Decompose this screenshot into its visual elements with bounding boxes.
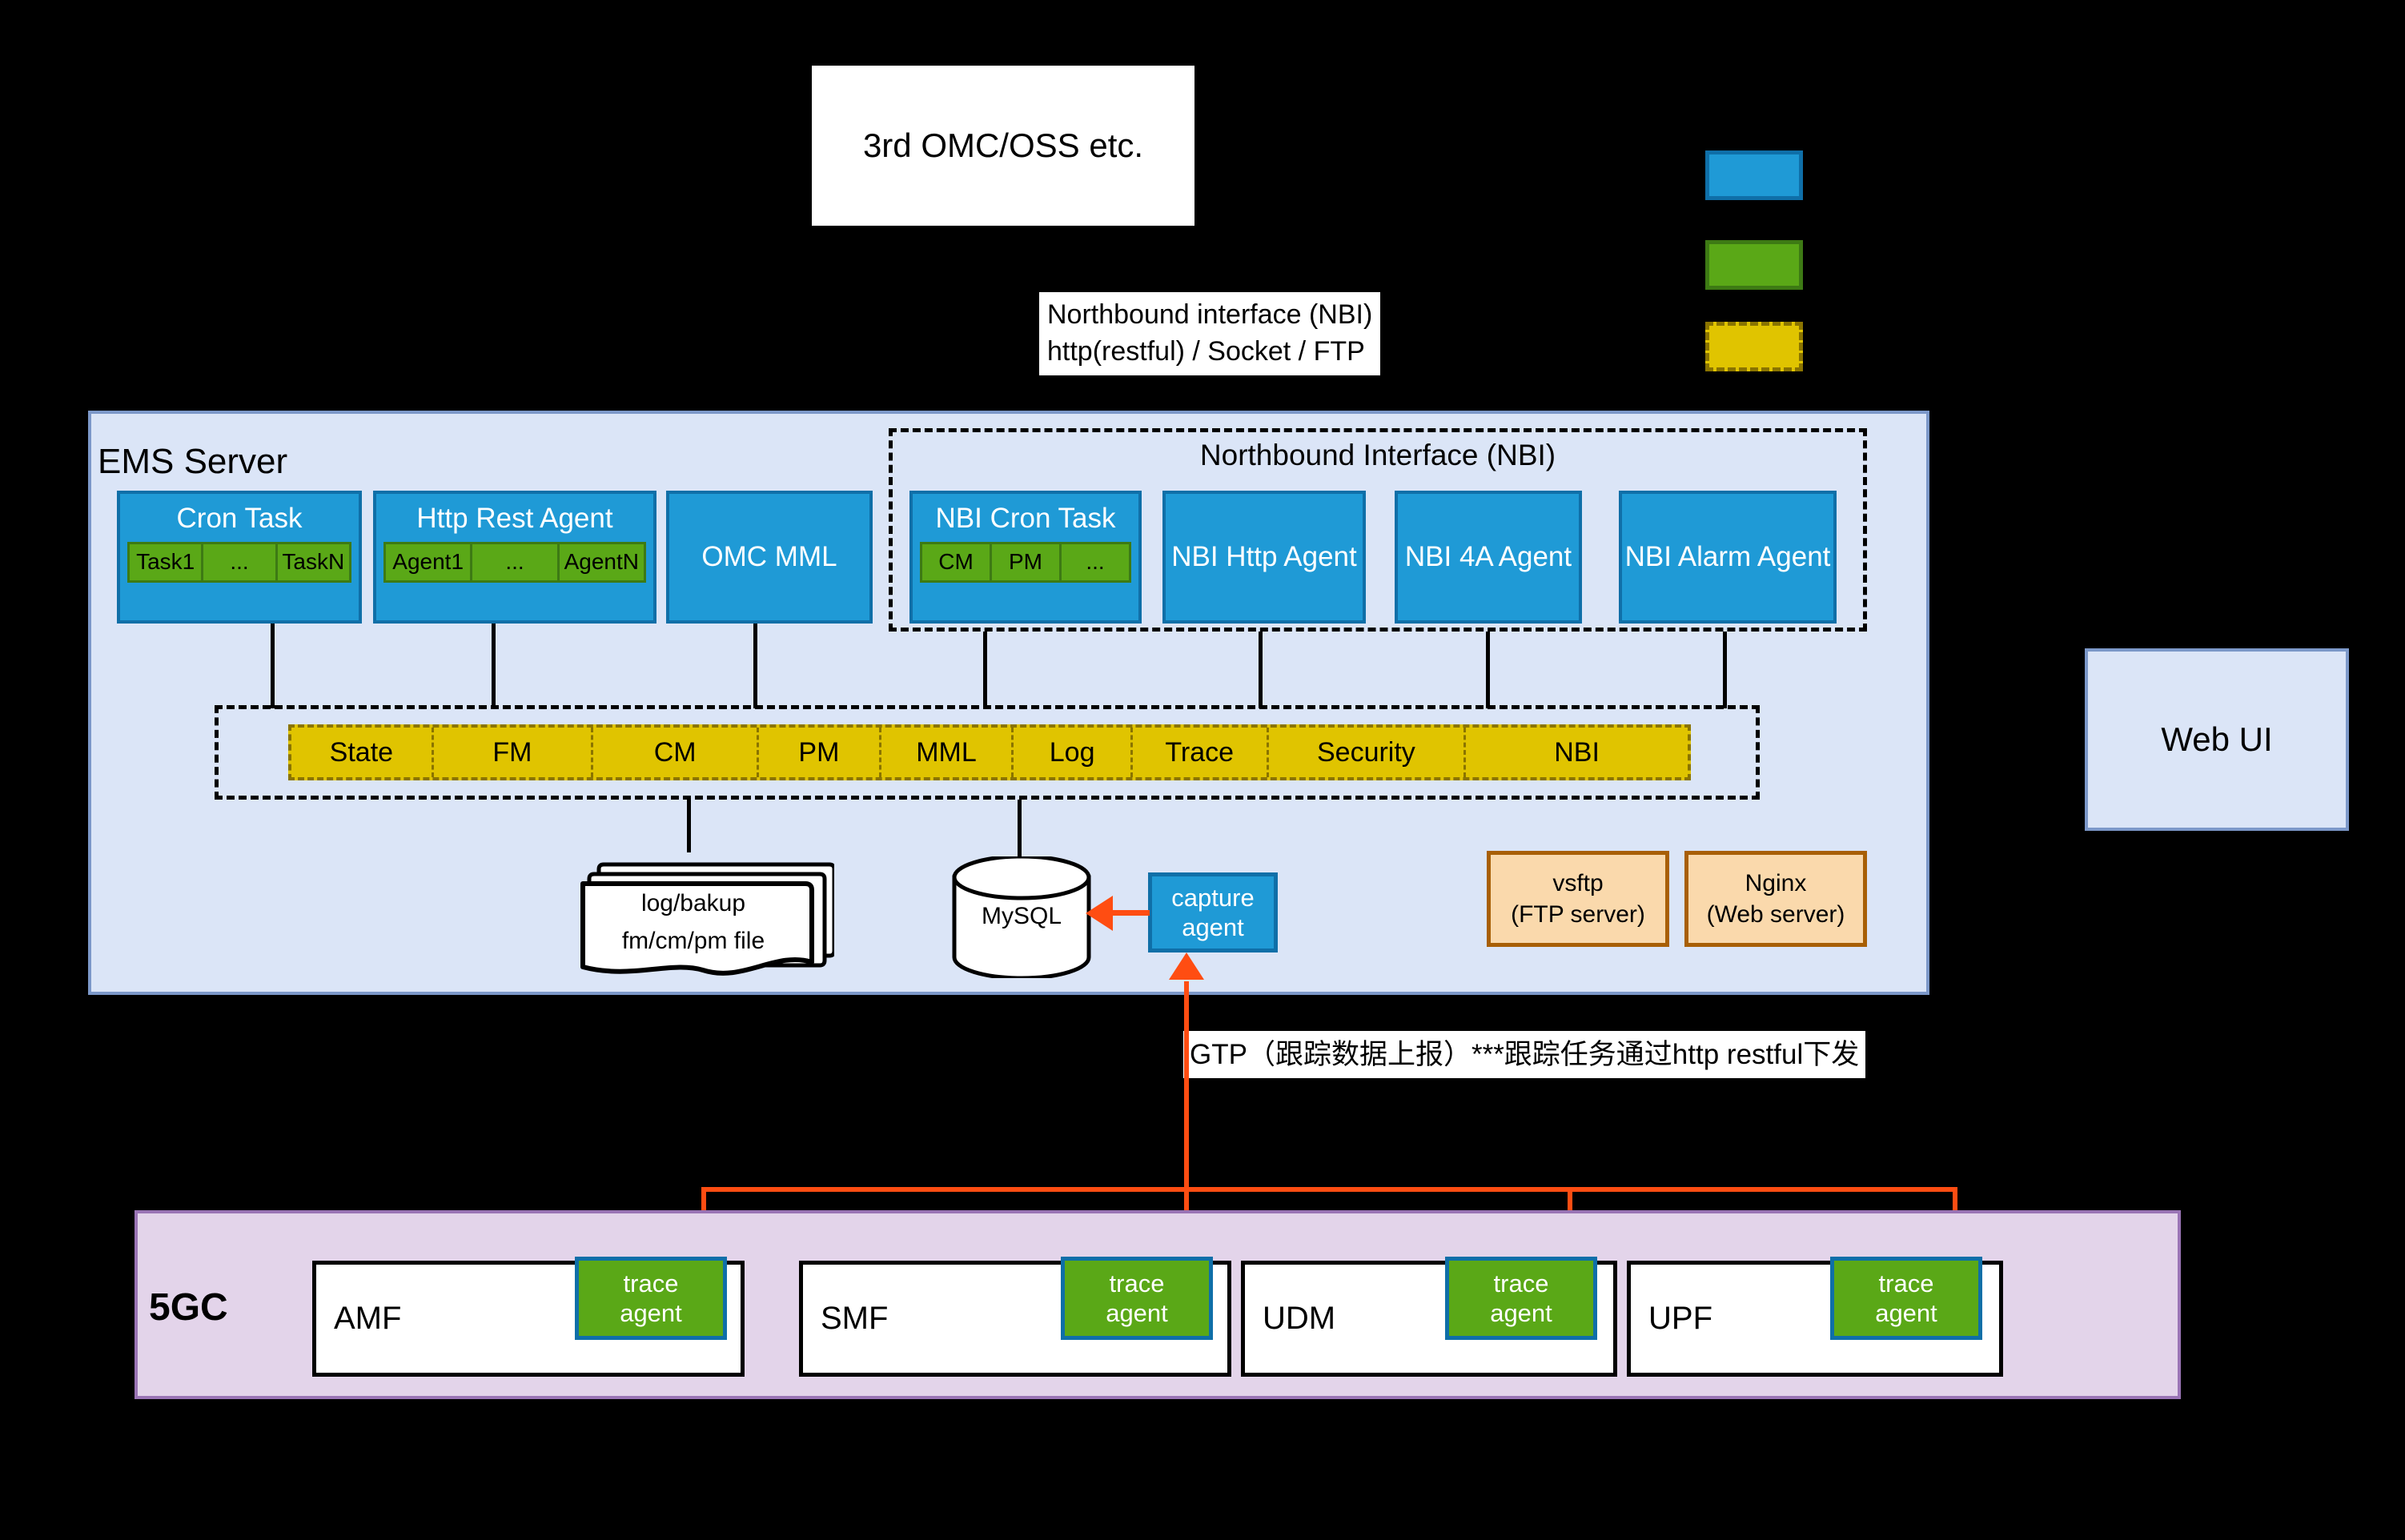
third-party-omc-oss-label: 3rd OMC/OSS etc. xyxy=(863,125,1143,167)
component-nbi-http-agent-title: NBI Http Agent xyxy=(1166,540,1363,573)
web-ui-box: Web UI xyxy=(2085,648,2349,831)
component-capture-agent[interactable]: capture agent xyxy=(1148,872,1278,952)
mysql-label: MySQL xyxy=(950,903,1094,930)
component-omc-mml-title: OMC MML xyxy=(669,540,869,573)
trace-agent-udm-line2: agent xyxy=(1490,1298,1552,1328)
trace-agent-upf-line1: trace xyxy=(1879,1269,1934,1298)
http-rest-agent-chip-2[interactable]: ... xyxy=(472,544,559,580)
orange-trunk-to-capture-agent xyxy=(1184,981,1189,1191)
cron-task-chip-2[interactable]: ... xyxy=(203,544,277,580)
service-bus-cell-trace[interactable]: Trace xyxy=(1133,728,1269,777)
server-nginx-line1: Nginx xyxy=(1745,868,1807,899)
nbi-group-title: Northbound Interface (NBI) xyxy=(889,439,1867,472)
service-bus-cell-cm[interactable]: CM xyxy=(593,728,759,777)
component-http-rest-agent[interactable]: Http Rest Agent Agent1 ... AgentN xyxy=(373,491,656,624)
nf-node-udm-label: UDM xyxy=(1263,1301,1335,1337)
service-bus-cell-security[interactable]: Security xyxy=(1269,728,1466,777)
server-nginx-line2: (Web server) xyxy=(1707,899,1845,930)
service-bus-cell-fm[interactable]: FM xyxy=(434,728,593,777)
component-nbi-alarm-agent[interactable]: NBI Alarm Agent xyxy=(1619,491,1837,624)
http-rest-agent-chip-1[interactable]: Agent1 xyxy=(386,544,472,580)
service-bus-cell-log[interactable]: Log xyxy=(1014,728,1132,777)
cron-task-chips: Task1 ... TaskN xyxy=(127,542,351,583)
legend-swatch-component-blue xyxy=(1705,150,1803,200)
ems-server-label: EMS Server xyxy=(98,442,287,481)
component-omc-mml[interactable]: OMC MML xyxy=(666,491,873,624)
trace-agent-smf-line2: agent xyxy=(1106,1298,1168,1328)
connector-http-rest-agent-to-bus xyxy=(492,624,496,708)
trace-agent-smf[interactable]: trace agent xyxy=(1061,1257,1213,1340)
component-http-rest-agent-title: Http Rest Agent xyxy=(376,494,653,535)
orange-bus-horizontal xyxy=(701,1187,1957,1192)
nf-node-smf-label: SMF xyxy=(821,1301,888,1337)
cron-task-chip-1[interactable]: Task1 xyxy=(130,544,203,580)
service-bus-cell-state[interactable]: State xyxy=(291,728,434,777)
ems-server-title: EMS Server xyxy=(98,442,287,482)
arrow-capture-to-mysql-head xyxy=(1086,896,1113,931)
connector-bus-to-mysql xyxy=(1018,800,1022,857)
connector-nbi-4a-agent-to-bus xyxy=(1486,632,1490,708)
file-store-text: log/bakup fm/cm/pm file xyxy=(564,885,823,960)
gtp-annotation-note: GTP（跟踪数据上报）***跟踪任务通过http restful下发 xyxy=(1183,1031,1865,1078)
third-party-omc-oss-box: 3rd OMC/OSS etc. xyxy=(812,66,1194,226)
connector-omcoss-to-ems xyxy=(1002,226,1005,411)
five-gc-label: 5GC xyxy=(149,1286,228,1329)
connector-bus-to-file-store xyxy=(687,800,691,852)
cron-task-chip-3[interactable]: TaskN xyxy=(278,544,349,580)
trace-agent-udm-line1: trace xyxy=(1494,1269,1549,1298)
connector-nbi-http-agent-to-bus xyxy=(1259,632,1263,708)
server-vsftp-line2: (FTP server) xyxy=(1511,899,1645,930)
component-nbi-4a-agent-title: NBI 4A Agent xyxy=(1398,540,1579,573)
five-gc-title: 5GC xyxy=(149,1285,228,1329)
northbound-interface-note: Northbound interface (NBI) http(restful)… xyxy=(1039,292,1380,375)
trace-agent-upf-line2: agent xyxy=(1875,1298,1937,1328)
component-cron-task-title: Cron Task xyxy=(120,494,359,535)
legend-swatch-service-yellow xyxy=(1705,322,1803,371)
capture-agent-line1: capture xyxy=(1171,883,1254,912)
nbi-cron-task-chip-3[interactable]: ... xyxy=(1062,544,1129,580)
component-cron-task[interactable]: Cron Task Task1 ... TaskN xyxy=(117,491,362,624)
nbi-cron-task-chips: CM PM ... xyxy=(920,542,1131,583)
connector-nbi-cron-task-to-bus xyxy=(983,632,987,708)
capture-agent-line2: agent xyxy=(1171,912,1254,942)
component-nbi-4a-agent[interactable]: NBI 4A Agent xyxy=(1395,491,1582,624)
connector-omc-mml-to-bus xyxy=(753,624,757,708)
arrow-capture-to-mysql-line xyxy=(1113,910,1150,916)
web-ui-label: Web UI xyxy=(2161,719,2272,761)
nbi-cron-task-chip-1[interactable]: CM xyxy=(922,544,992,580)
gtp-annotation-text: GTP（跟踪数据上报）***跟踪任务通过http restful下发 xyxy=(1190,1039,1859,1070)
component-nbi-cron-task[interactable]: NBI Cron Task CM PM ... xyxy=(909,491,1142,624)
trace-agent-amf-line2: agent xyxy=(620,1298,682,1328)
component-nbi-alarm-agent-title: NBI Alarm Agent xyxy=(1622,540,1833,573)
nbi-note-line2: http(restful) / Socket / FTP xyxy=(1047,334,1372,371)
nf-node-upf-label: UPF xyxy=(1648,1301,1712,1337)
service-bus-cell-pm[interactable]: PM xyxy=(759,728,881,777)
server-nginx[interactable]: Nginx (Web server) xyxy=(1684,851,1867,947)
nbi-note-line1: Northbound interface (NBI) xyxy=(1047,297,1372,334)
orange-trunk-arrowhead xyxy=(1169,952,1204,980)
nbi-cron-task-chip-2[interactable]: PM xyxy=(992,544,1062,580)
trace-agent-amf-line1: trace xyxy=(624,1269,679,1298)
component-nbi-cron-task-title: NBI Cron Task xyxy=(913,494,1138,535)
service-bus-cell-nbi[interactable]: NBI xyxy=(1466,728,1688,777)
trace-agent-upf[interactable]: trace agent xyxy=(1830,1257,1982,1340)
connector-cron-task-to-bus xyxy=(271,624,275,708)
file-store-line2: fm/cm/pm file xyxy=(564,923,823,960)
component-nbi-http-agent[interactable]: NBI Http Agent xyxy=(1162,491,1366,624)
server-vsftp-line1: vsftp xyxy=(1552,868,1603,899)
http-rest-agent-chip-3[interactable]: AgentN xyxy=(560,544,644,580)
http-rest-agent-chips: Agent1 ... AgentN xyxy=(383,542,646,583)
nbi-group-title-label: Northbound Interface (NBI) xyxy=(889,439,1867,472)
service-bus-cell-mml[interactable]: MML xyxy=(881,728,1014,777)
trace-agent-amf[interactable]: trace agent xyxy=(575,1257,727,1340)
connector-nbi-alarm-agent-to-bus xyxy=(1723,632,1727,708)
server-vsftp[interactable]: vsftp (FTP server) xyxy=(1487,851,1669,947)
architecture-diagram: 3rd OMC/OSS etc. Northbound interface (N… xyxy=(0,0,2405,1540)
trace-agent-udm[interactable]: trace agent xyxy=(1445,1257,1597,1340)
nf-node-amf-label: AMF xyxy=(334,1301,401,1337)
file-store-line1: log/bakup xyxy=(564,885,823,923)
service-bus: State FM CM PM MML Log Trace Security NB… xyxy=(288,724,1691,780)
file-store-stack: log/bakup fm/cm/pm file xyxy=(575,850,834,978)
trace-agent-smf-line1: trace xyxy=(1110,1269,1165,1298)
mysql-database: MySQL xyxy=(950,856,1094,978)
legend-swatch-agent-green xyxy=(1705,240,1803,290)
